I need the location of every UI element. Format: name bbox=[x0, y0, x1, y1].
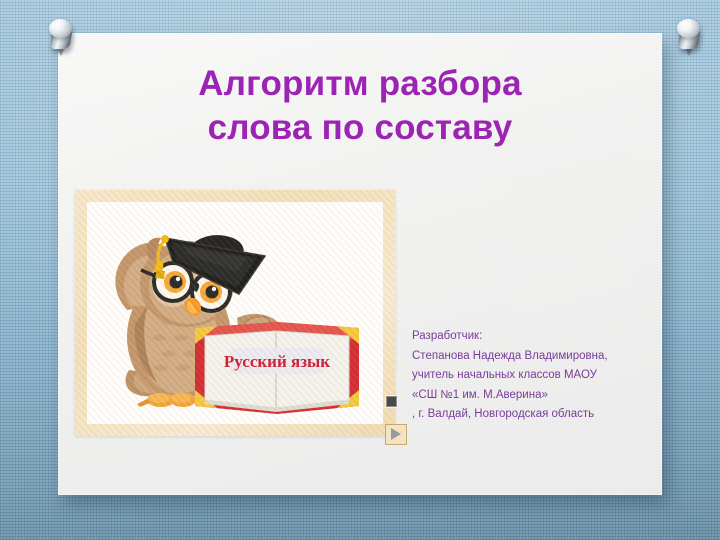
pushpin-head bbox=[677, 19, 700, 38]
pushpin-head bbox=[49, 19, 72, 38]
pushpin-icon-right bbox=[672, 16, 706, 60]
owl-illustration: Русский язык bbox=[87, 202, 383, 424]
picture-frame: Русский язык bbox=[75, 190, 395, 436]
author-line-name: Степанова Надежда Владимировна, bbox=[412, 347, 658, 367]
author-credits-block: Разработчик: Степанова Надежда Владимиро… bbox=[412, 327, 658, 425]
author-line-location: , г. Валдай, Новгородская область bbox=[412, 405, 658, 425]
presentation-slide: Алгоритм разбора слова по составу bbox=[0, 0, 720, 540]
book-label-text: Русский язык bbox=[224, 352, 330, 371]
owl-graduate-icon: Русский язык bbox=[87, 202, 383, 424]
pushpin-icon-left bbox=[44, 16, 78, 60]
author-line-role: Разработчик: bbox=[412, 327, 658, 347]
slide-title: Алгоритм разбора слова по составу bbox=[70, 62, 650, 150]
play-bullet-marker[interactable] bbox=[385, 424, 407, 445]
author-line-position: учитель начальных классов МАОУ bbox=[412, 366, 658, 386]
square-bullet-marker[interactable] bbox=[386, 396, 397, 407]
author-line-school: «СШ №1 им. М.Аверина» bbox=[412, 386, 658, 406]
